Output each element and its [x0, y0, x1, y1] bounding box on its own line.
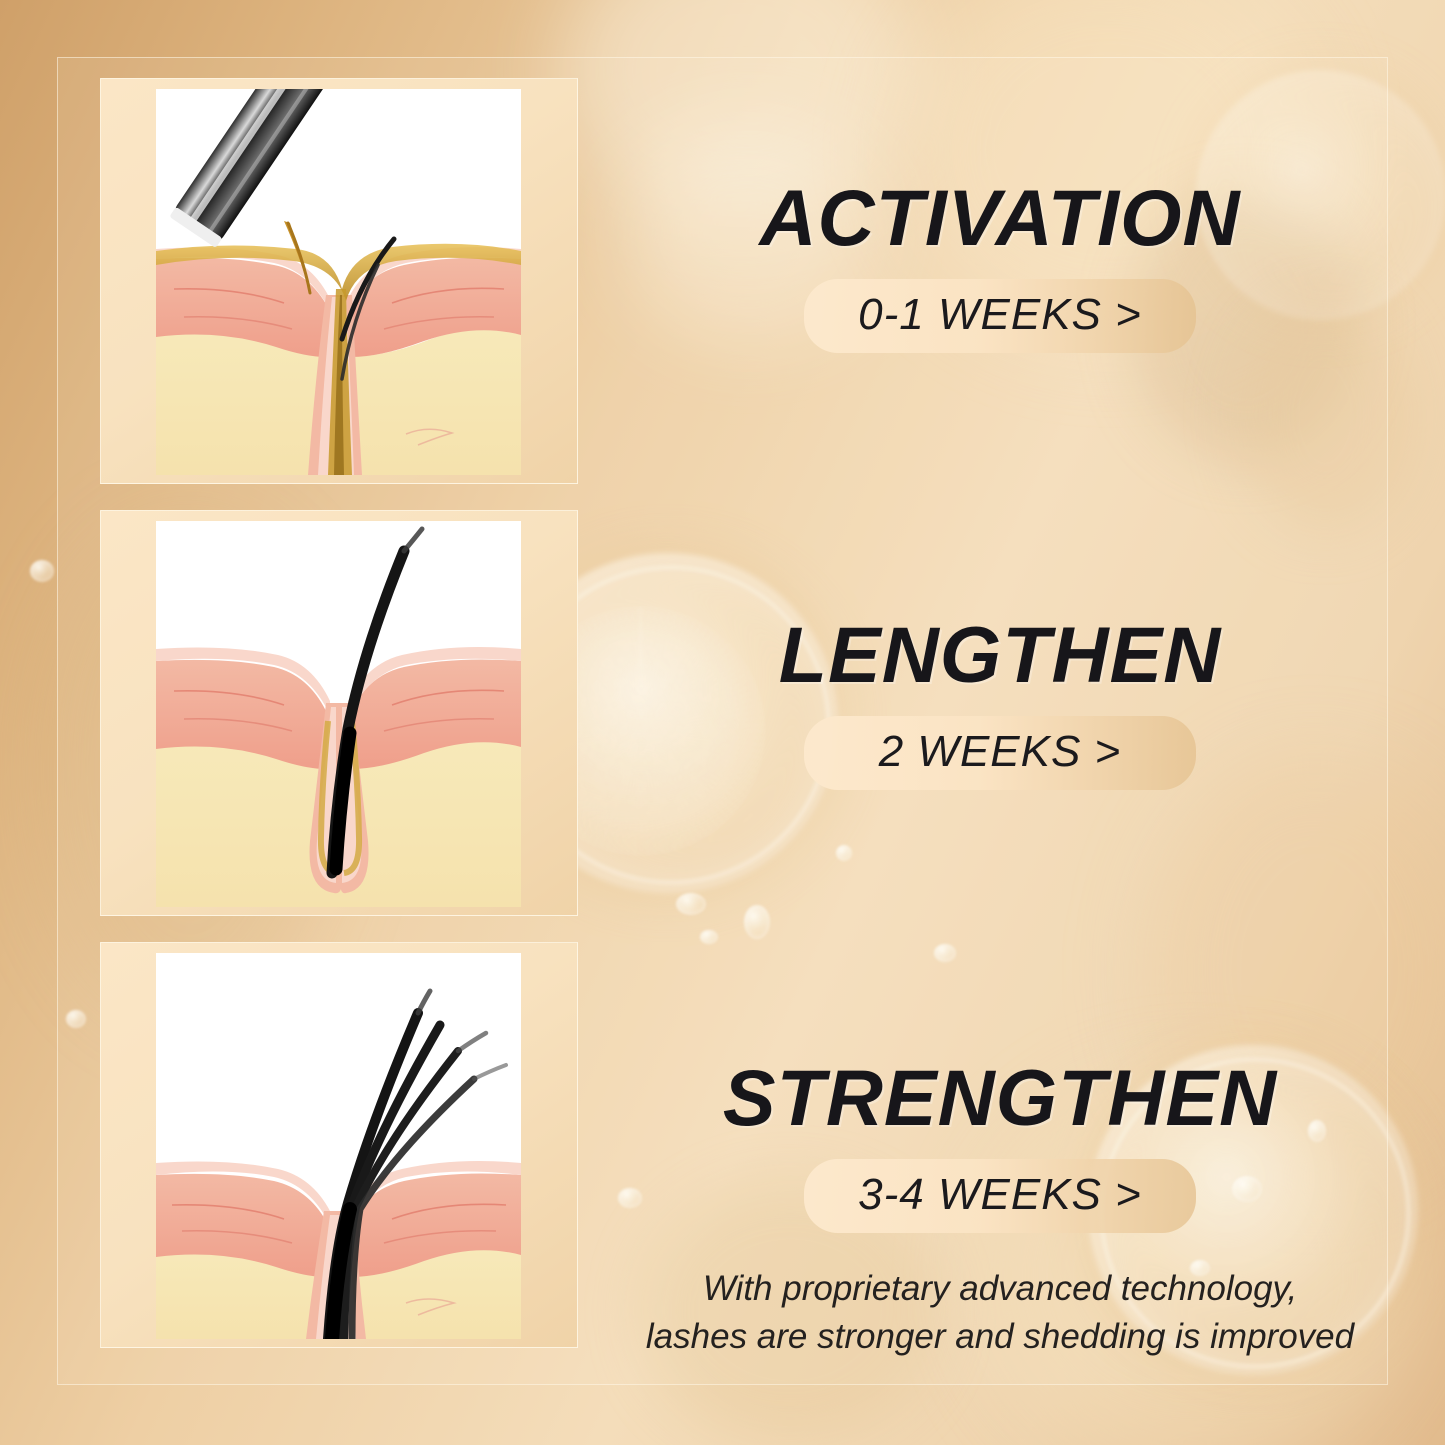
step-lengthen: LENGTHEN 2 WEEKS >	[600, 615, 1400, 790]
footnote: With proprietary advanced technology, la…	[600, 1265, 1400, 1360]
footnote-line-1: With proprietary advanced technology,	[600, 1265, 1400, 1313]
step-badge-label-activation: 0-1 WEEKS >	[858, 290, 1142, 339]
promo-graphic: ACTIVATION 0-1 WEEKS > LENGTHEN 2 WEEKS …	[0, 0, 1445, 1445]
illustration-card-lengthen	[100, 510, 578, 916]
step-badge-label-strengthen: 3-4 WEEKS >	[858, 1170, 1142, 1219]
step-badge-activation[interactable]: 0-1 WEEKS >	[804, 279, 1196, 353]
step-activation: ACTIVATION 0-1 WEEKS >	[600, 178, 1400, 353]
step-badge-label-lengthen: 2 WEEKS >	[879, 727, 1122, 776]
step-badge-lengthen[interactable]: 2 WEEKS >	[804, 716, 1196, 790]
illustration-card-strengthen	[100, 942, 578, 1348]
step-strengthen: STRENGTHEN 3-4 WEEKS >	[600, 1058, 1400, 1233]
step-title-lengthen: LENGTHEN	[600, 615, 1400, 694]
steps-column: ACTIVATION 0-1 WEEKS > LENGTHEN 2 WEEKS …	[600, 0, 1400, 1445]
step-title-activation: ACTIVATION	[600, 178, 1400, 257]
serum-applicator-illustration	[156, 89, 521, 475]
multiple-hairs-illustration	[156, 953, 521, 1339]
single-hair-illustration	[156, 521, 521, 907]
step-badge-strengthen[interactable]: 3-4 WEEKS >	[804, 1159, 1196, 1233]
step-title-strengthen: STRENGTHEN	[600, 1058, 1400, 1137]
footnote-line-2: lashes are stronger and shedding is impr…	[600, 1313, 1400, 1361]
illustration-card-activation	[100, 78, 578, 484]
